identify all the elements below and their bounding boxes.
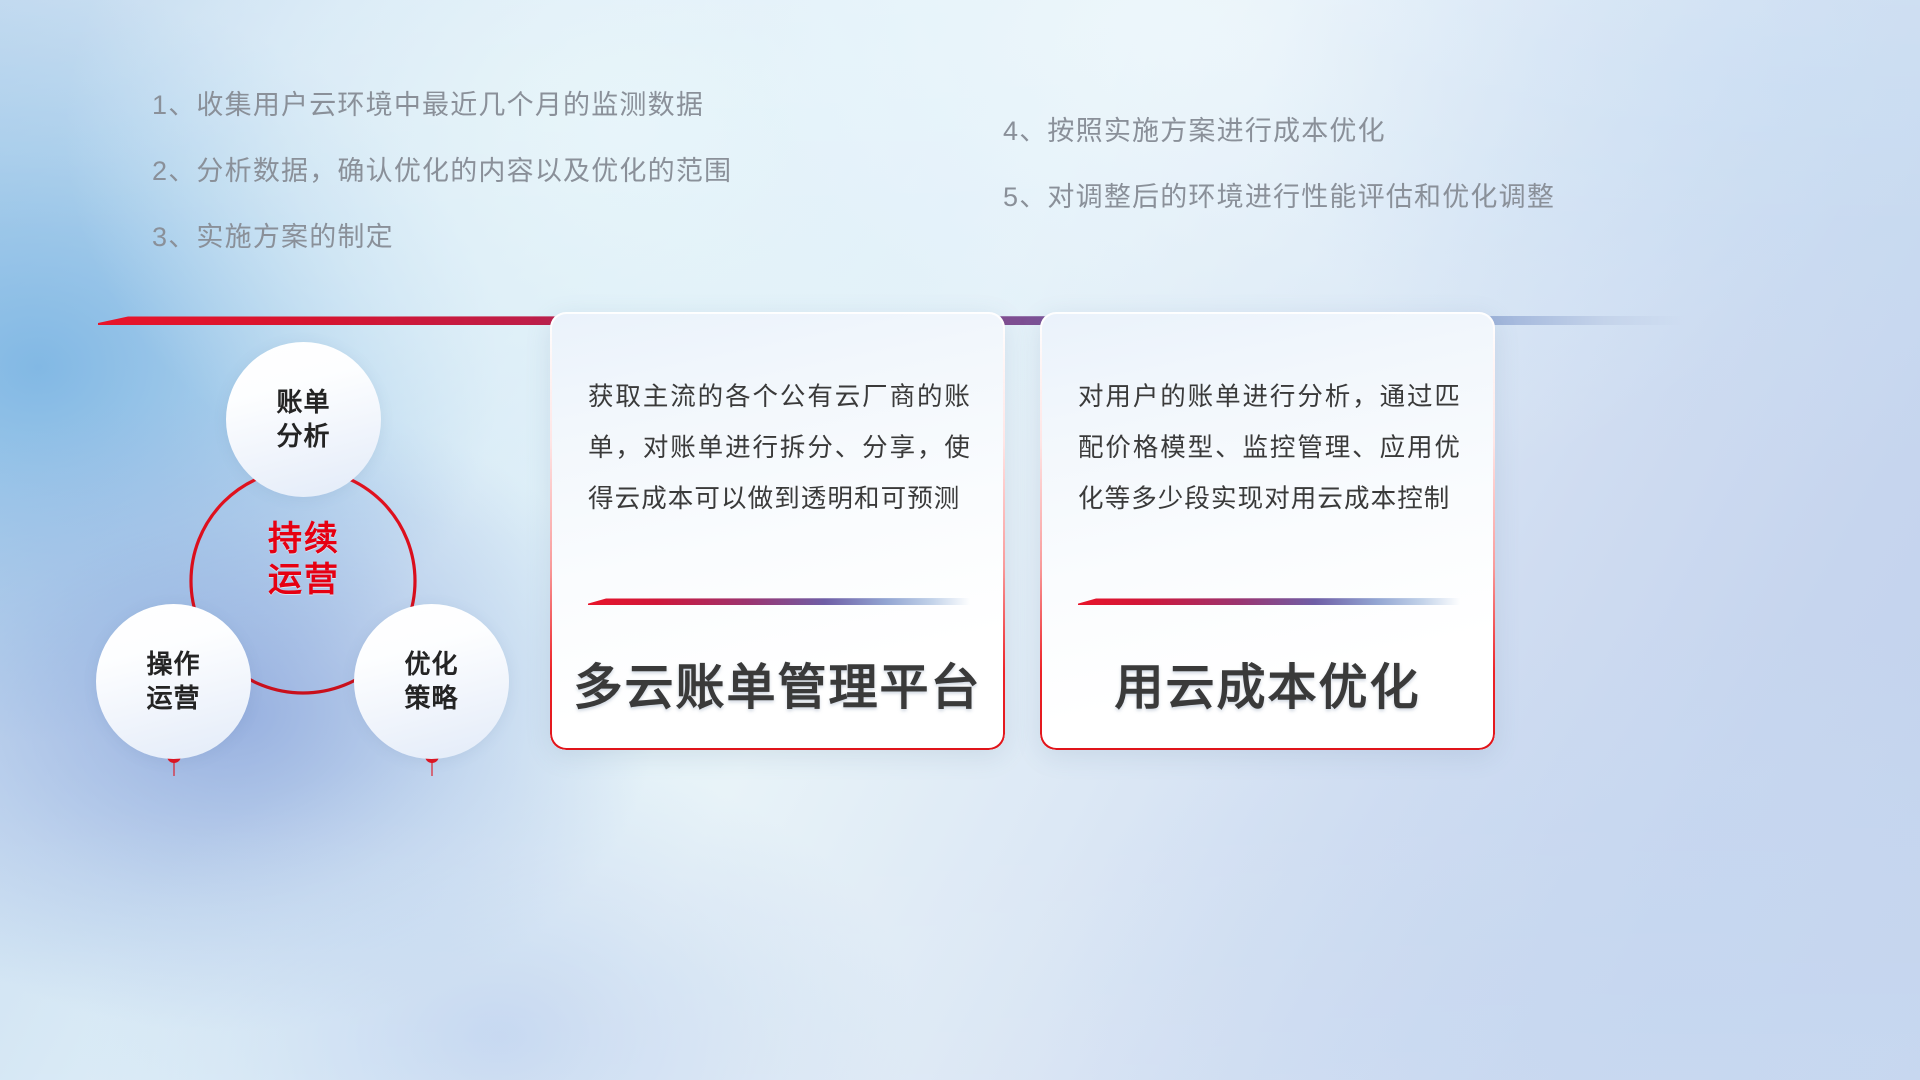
diagram-center-label: 持续 运营 [214,500,394,620]
bubble-label-line2: 运营 [146,683,200,713]
bubble-label-line1: 优化 [404,649,458,679]
center-label-line2: 运营 [268,561,340,599]
card-description: 对用户的账单进行分析，通过匹配价格模型、监控管理、应用优化等多少段实现对用云成本… [1078,372,1461,525]
card-title: 多云账单管理平台 [550,648,1005,719]
steps-right-column: 4、按照实施方案进行成本优化 5、对调整后的环境进行性能评估和优化调整 [1003,118,1555,250]
step-item-5: 5、对调整后的环境进行性能评估和优化调整 [1003,184,1555,211]
step-item-2: 2、分析数据，确认优化的内容以及优化的范围 [152,158,732,185]
step-item-1: 1、收集用户云环境中最近几个月的监测数据 [152,92,732,119]
step-item-3: 3、实施方案的制定 [152,224,732,251]
card-divider [1078,598,1460,605]
steps-section: 1、收集用户云环境中最近几个月的监测数据 2、分析数据，确认优化的内容以及优化的… [0,0,1920,300]
diagram-bubble-operations[interactable]: 操作 运营 [96,604,251,759]
bubble-label-line2: 分析 [276,421,330,451]
feature-card-multicloud-billing[interactable]: 获取主流的各个公有云厂商的账单，对账单进行拆分、分享，使得云成本可以做到透明和可… [550,312,1005,750]
bubble-label: 操作 运营 [146,648,200,716]
bubble-label-line1: 操作 [146,649,200,679]
center-label-line1: 持续 [268,520,340,558]
diagram-bubble-bill-analysis[interactable]: 账单 分析 [226,342,381,497]
card-description: 获取主流的各个公有云厂商的账单，对账单进行拆分、分享，使得云成本可以做到透明和可… [588,372,971,525]
steps-left-column: 1、收集用户云环境中最近几个月的监测数据 2、分析数据，确认优化的内容以及优化的… [152,92,732,290]
card-title: 用云成本优化 [1040,648,1495,719]
bubble-label: 账单 分析 [276,386,330,454]
bubble-label-line2: 策略 [404,683,458,713]
bubble-label-line1: 账单 [276,387,330,417]
step-item-4: 4、按照实施方案进行成本优化 [1003,118,1555,145]
slide-canvas: 1、收集用户云环境中最近几个月的监测数据 2、分析数据，确认优化的内容以及优化的… [0,0,1920,1080]
feature-card-cost-optimization[interactable]: 对用户的账单进行分析，通过匹配价格模型、监控管理、应用优化等多少段实现对用云成本… [1040,312,1495,750]
diagram-bubble-optimization-strategy[interactable]: 优化 策略 [354,604,509,759]
cycle-diagram: 账单 分析 操作 运营 优化 策略 持续 运营 [86,352,586,852]
bubble-label: 优化 策略 [404,648,458,716]
card-divider [588,598,970,605]
